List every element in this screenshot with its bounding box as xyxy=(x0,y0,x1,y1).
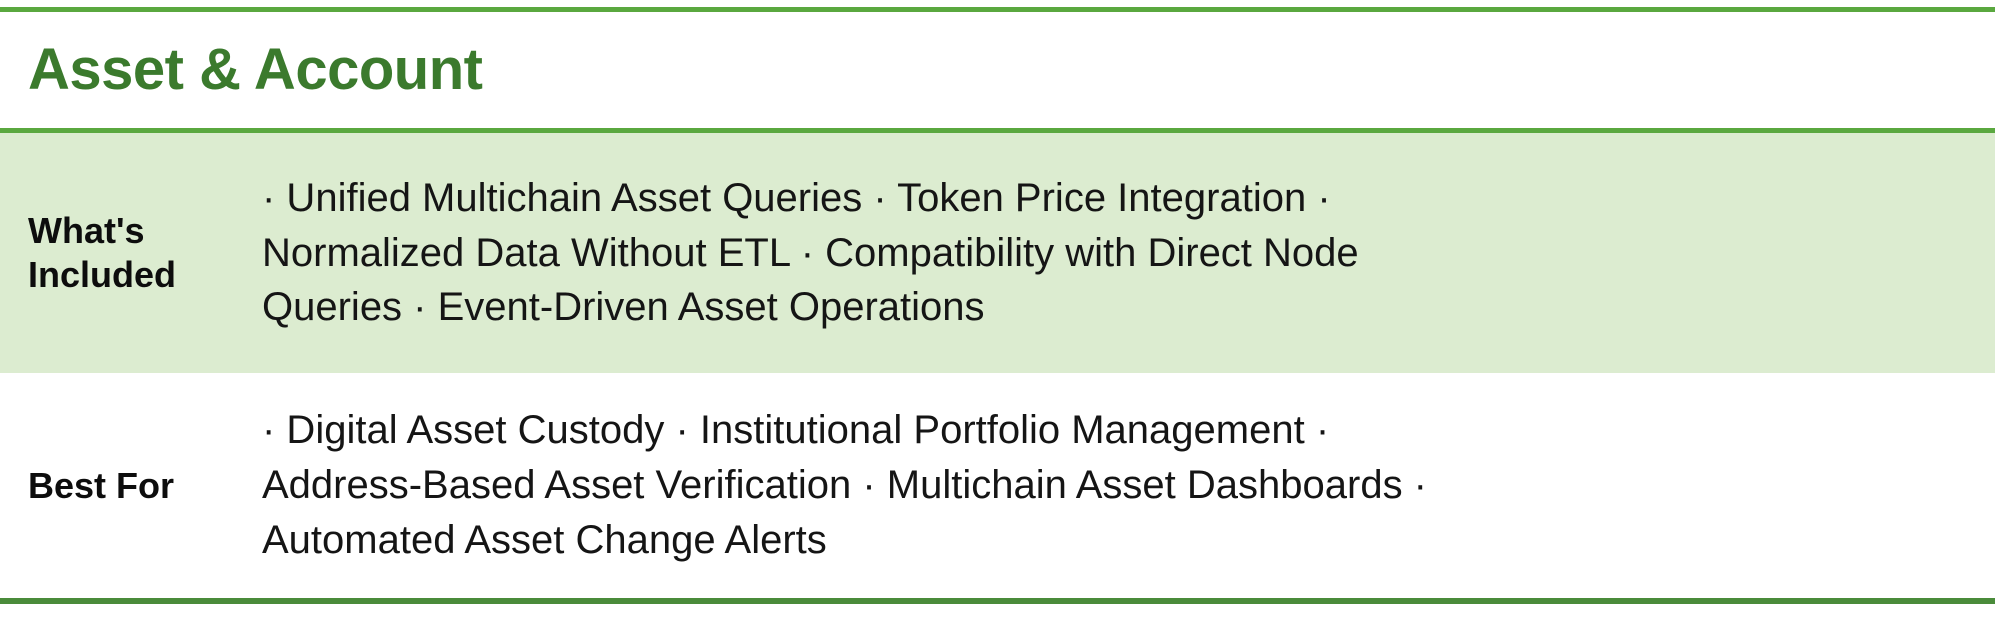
row-label-best-for: Best For xyxy=(0,464,262,508)
card-header: Asset & Account xyxy=(0,12,2000,128)
bottom-divider-rule xyxy=(0,598,1995,604)
spec-table-body: What's Included · Unified Multichain Ass… xyxy=(0,133,2000,598)
page-title: Asset & Account xyxy=(0,41,482,99)
row-value-best-for: · Digital Asset Custody · Institutional … xyxy=(262,403,1995,567)
table-row: What's Included · Unified Multichain Ass… xyxy=(0,133,1995,373)
table-row: Best For · Digital Asset Custody · Insti… xyxy=(0,373,1995,598)
row-value-whats-included: · Unified Multichain Asset Queries · Tok… xyxy=(262,171,1995,335)
asset-account-spec-card: Asset & Account What's Included · Unifie… xyxy=(0,0,2000,636)
row-label-whats-included: What's Included xyxy=(0,209,262,297)
